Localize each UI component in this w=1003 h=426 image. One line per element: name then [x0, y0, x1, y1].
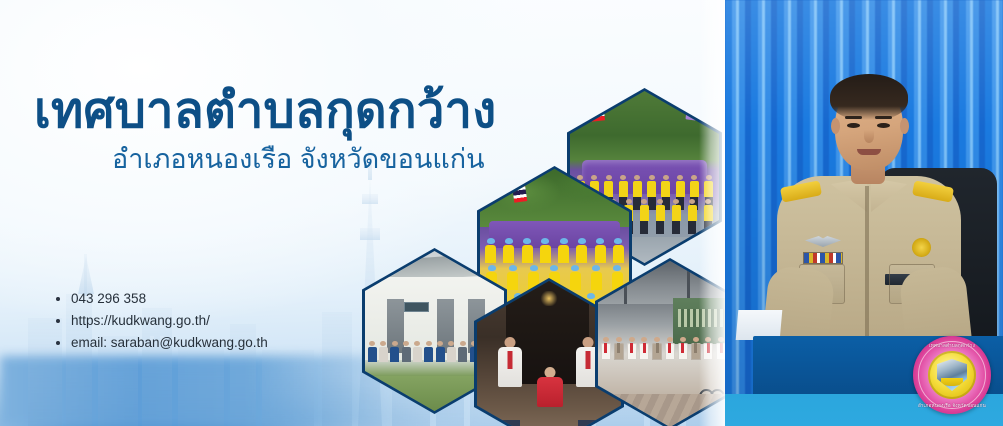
hair [830, 74, 908, 120]
contact-phone-text: 043 296 358 [71, 291, 146, 306]
eye-right [877, 123, 890, 128]
purple-banner-flag-icon [686, 94, 700, 121]
contact-list: 043 296 358 https://kudkwang.go.th/ emai… [55, 288, 268, 354]
seal-top-text: เทศบาลตำบลกุดกว้าง [913, 343, 991, 348]
shirt-placket [865, 186, 869, 346]
contact-item-website[interactable]: https://kudkwang.go.th/ [55, 310, 268, 332]
contact-email-text[interactable]: email: saraban@kudkwang.go.th [71, 335, 268, 350]
ribbon-bar-icon [803, 252, 843, 264]
nose [864, 130, 874, 143]
mayor-figure [769, 68, 965, 368]
contact-website-text[interactable]: https://kudkwang.go.th/ [71, 313, 210, 328]
rank-insignia-icon [912, 238, 931, 257]
ear-left [831, 118, 840, 134]
thai-flag-icon [512, 182, 528, 203]
photo-helper-left [494, 337, 526, 426]
bullet-dot-icon [56, 319, 60, 323]
photo-building-sign [404, 302, 429, 312]
photo-wheelchair-person [532, 367, 569, 426]
eyebrow-right [875, 116, 892, 119]
contact-item-email[interactable]: email: saraban@kudkwang.go.th [55, 332, 268, 354]
bullet-dot-icon [56, 341, 60, 345]
ear-right [900, 118, 909, 134]
photo-lamp-glow [540, 291, 557, 306]
bullet-dot-icon [56, 297, 60, 301]
mouth [857, 149, 881, 155]
eye-left [847, 123, 860, 128]
contact-item-phone: 043 296 358 [55, 288, 268, 310]
thai-flag-icon [590, 101, 605, 122]
photo-crowd-row [599, 337, 740, 360]
photo-collage [352, 88, 752, 398]
municipality-banner: เทศบาลตำบลกุดกว้าง อำเภอหนองเรือ จังหวัด… [0, 0, 1003, 426]
municipality-seal-logo[interactable]: เทศบาลตำบลกุดกว้าง อำเภอหนองเรือ จังหวัด… [913, 336, 991, 414]
eyebrow-left [845, 116, 862, 119]
photo-crowd-row [481, 238, 627, 263]
seal-bottom-text: อำเภอหนองเรือ จังหวัดขอนแก่น [913, 403, 991, 408]
